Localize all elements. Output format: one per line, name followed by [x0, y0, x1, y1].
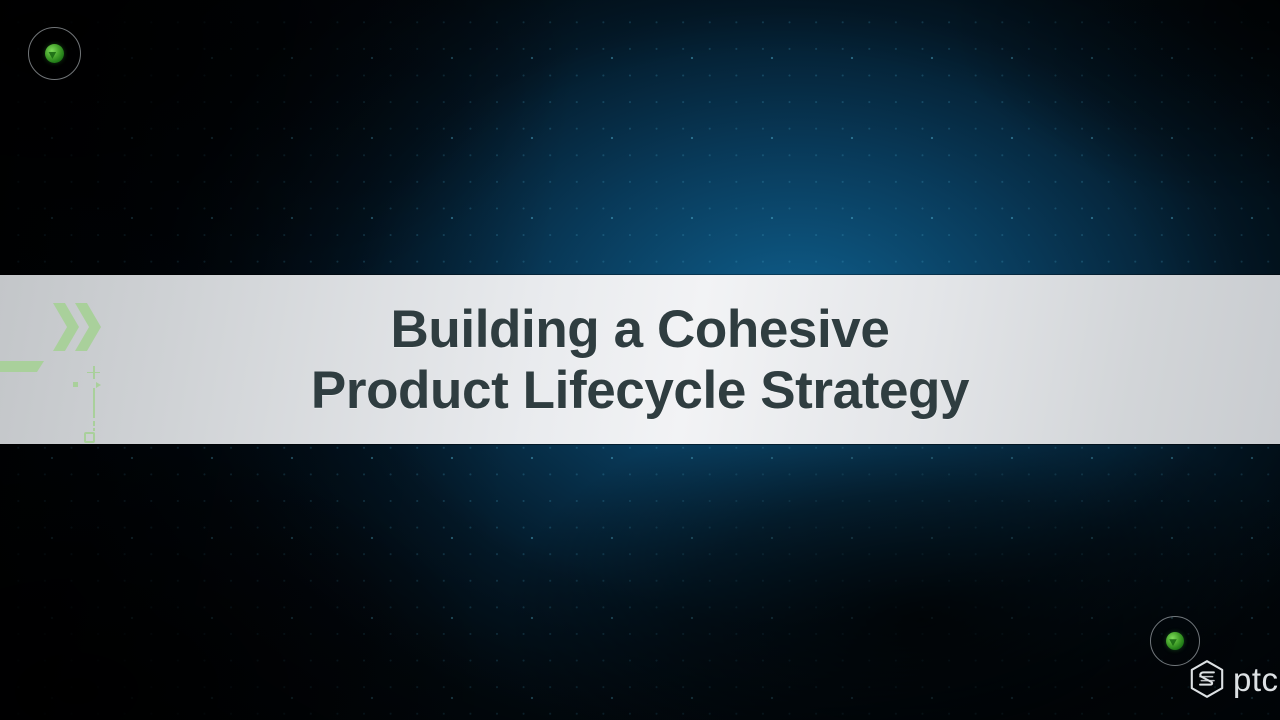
title-slide: Building a Cohesive Product Lifecycle St…	[0, 0, 1280, 720]
ptc-wordmark: ptc	[1233, 663, 1279, 696]
orbit-ring-sphere-icon-bottom-right	[1150, 616, 1200, 666]
orbit-sphere	[45, 44, 64, 63]
title-line-1: Building a Cohesive	[391, 299, 890, 360]
page-title: Building a Cohesive Product Lifecycle St…	[0, 275, 1280, 444]
orbit-sphere	[1166, 632, 1184, 650]
ptc-hexagon-layers-icon	[1190, 660, 1224, 698]
orbit-ring-sphere-icon-top-left	[28, 27, 81, 80]
title-line-2: Product Lifecycle Strategy	[311, 360, 969, 421]
ptc-logo: ptc	[1190, 660, 1279, 698]
